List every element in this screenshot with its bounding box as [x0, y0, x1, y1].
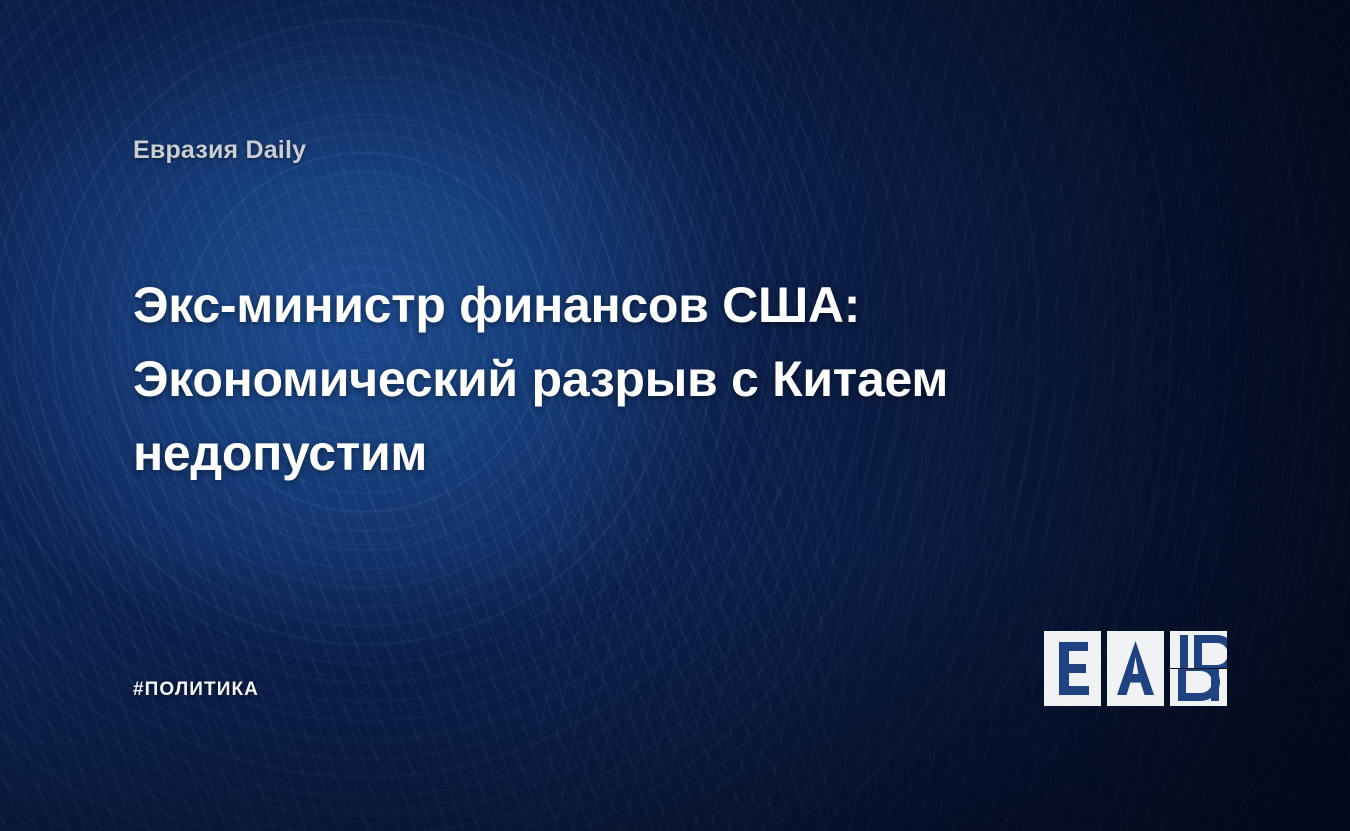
logo-tile-e — [1044, 631, 1101, 706]
logo-tile-d-top-half — [1170, 631, 1227, 668]
page-title: Экс-министр финансов США: Экономический … — [133, 268, 1083, 490]
brand-name: Евразия Daily — [133, 136, 306, 165]
news-card: Евразия Daily Экс-министр финансов США: … — [0, 0, 1350, 831]
card-content: Евразия Daily Экс-министр финансов США: … — [0, 0, 1350, 831]
logo-tile-a — [1107, 631, 1164, 706]
logo-tile-d-bottom-half — [1170, 669, 1227, 706]
eadaily-logo[interactable] — [1044, 631, 1227, 706]
category-tag[interactable]: #ПОЛИТИКА — [133, 679, 259, 701]
logo-tile-d-split — [1170, 631, 1227, 706]
